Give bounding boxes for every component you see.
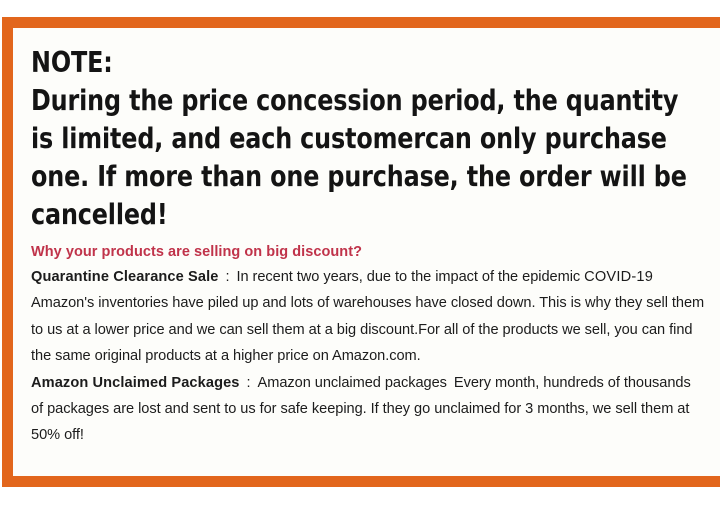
unclaimed-packages-label: Amazon Unclaimed Packages — [31, 375, 240, 391]
covid-19-term: COVID-19 — [584, 269, 653, 285]
note-headline-block: NOTE: During the price concession period… — [31, 44, 706, 234]
note-headline-line-4: cancelled! — [31, 196, 706, 234]
note-label: NOTE: — [31, 44, 706, 82]
unclaimed-packages-paragraph: Amazon Unclaimed Packages:Amazon unclaim… — [31, 370, 706, 449]
unclaimed-body-part-1: Amazon unclaimed packages — [258, 375, 447, 391]
note-headline-line-2: is limited, and each customercan only pu… — [31, 120, 706, 158]
quarantine-colon: : — [225, 269, 229, 285]
promo-banner-frame: NOTE: During the price concession period… — [2, 17, 720, 487]
quarantine-clearance-label: Quarantine Clearance Sale — [31, 269, 218, 285]
note-headline-line-1: During the price concession period, the … — [31, 82, 706, 120]
note-headline-line-3: one. If more than one purchase, the orde… — [31, 158, 706, 196]
promo-banner-panel: NOTE: During the price concession period… — [13, 28, 720, 476]
unclaimed-colon: : — [247, 375, 251, 391]
quarantine-body-part-2: Amazon's inventories have piled up and l… — [31, 295, 704, 364]
quarantine-clearance-paragraph: Quarantine Clearance Sale:In recent two … — [31, 264, 706, 370]
quarantine-body-part-1: In recent two years, due to the impact o… — [236, 269, 584, 285]
discount-question-heading: Why your products are selling on big dis… — [31, 240, 706, 264]
